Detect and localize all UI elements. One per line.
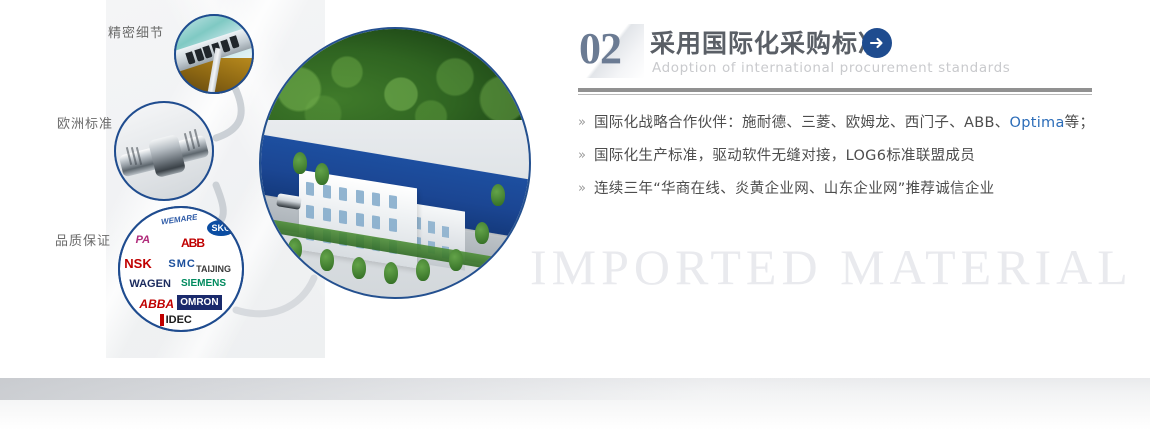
section-content: 02 采用国际化采购标准 Adoption of international p… (578, 22, 1098, 212)
section-title-cn: 采用国际化采购标准 (650, 24, 884, 60)
bullet-list: » 国际化战略合作伙伴：施耐德、三菱、欧姆龙、西门子、ABB、Optima等； … (578, 113, 1098, 199)
list-item: » 连续三年“华商在线、炎黄企业网、山东企业网”推荐诚信企业 (578, 179, 1098, 199)
bullet-marker-icon: » (578, 113, 594, 133)
list-item-text: 连续三年“华商在线、炎黄企业网、山东企业网”推荐诚信企业 (594, 179, 994, 199)
list-item-lead: 国际化生产标准，驱动软件无缝对接，LOG6标准联盟成员 (594, 148, 975, 164)
precision-detail-ring (174, 14, 254, 94)
list-item-tail: 等； (1065, 115, 1095, 131)
bullet-marker-icon: » (578, 179, 594, 199)
bullet-marker-icon: » (578, 146, 594, 166)
factory-photo-ring (259, 27, 531, 299)
section-divider (578, 88, 1092, 95)
list-item: » 国际化战略合作伙伴：施耐德、三菱、欧姆龙、西门子、ABB、Optima等； (578, 113, 1098, 133)
european-standard-ring (114, 101, 214, 201)
label-precision-detail: 精密细节 (108, 22, 164, 41)
list-item-text: 国际化生产标准，驱动软件无缝对接，LOG6标准联盟成员 (594, 146, 975, 166)
watermark-text: IMPORTED MATERIAL (530, 238, 1133, 296)
list-item-highlight: Optima (1010, 115, 1065, 131)
section-number-plate: 02 (578, 24, 644, 78)
arrow-right-circle-icon[interactable] (862, 28, 892, 58)
factory-photo (259, 27, 531, 299)
list-item-lead: 国际化战略合作伙伴：施耐德、三菱、欧姆龙、西门子、ABB、 (594, 115, 1010, 131)
list-item-lead: 连续三年“华商在线、炎黄企业网、山东企业网”推荐诚信企业 (594, 181, 994, 197)
section-number: 02 (579, 27, 621, 71)
quality-assurance-ring (118, 206, 244, 332)
bottom-gradient-band (0, 378, 1150, 430)
divider-thin-line (578, 94, 1092, 95)
page-canvas: 精密细节 欧洲标准 品质保证 WEMARE SKO PA ABB (0, 0, 1150, 430)
section-header: 02 采用国际化采购标准 Adoption of international p… (578, 22, 1098, 84)
label-quality-assurance: 品质保证 (55, 230, 111, 249)
list-item: » 国际化生产标准，驱动软件无缝对接，LOG6标准联盟成员 (578, 146, 1098, 166)
list-item-text: 国际化战略合作伙伴：施耐德、三菱、欧姆龙、西门子、ABB、Optima等； (594, 113, 1094, 133)
section-title-en: Adoption of international procurement st… (652, 60, 1010, 76)
label-european-standard: 欧洲标准 (57, 113, 113, 132)
